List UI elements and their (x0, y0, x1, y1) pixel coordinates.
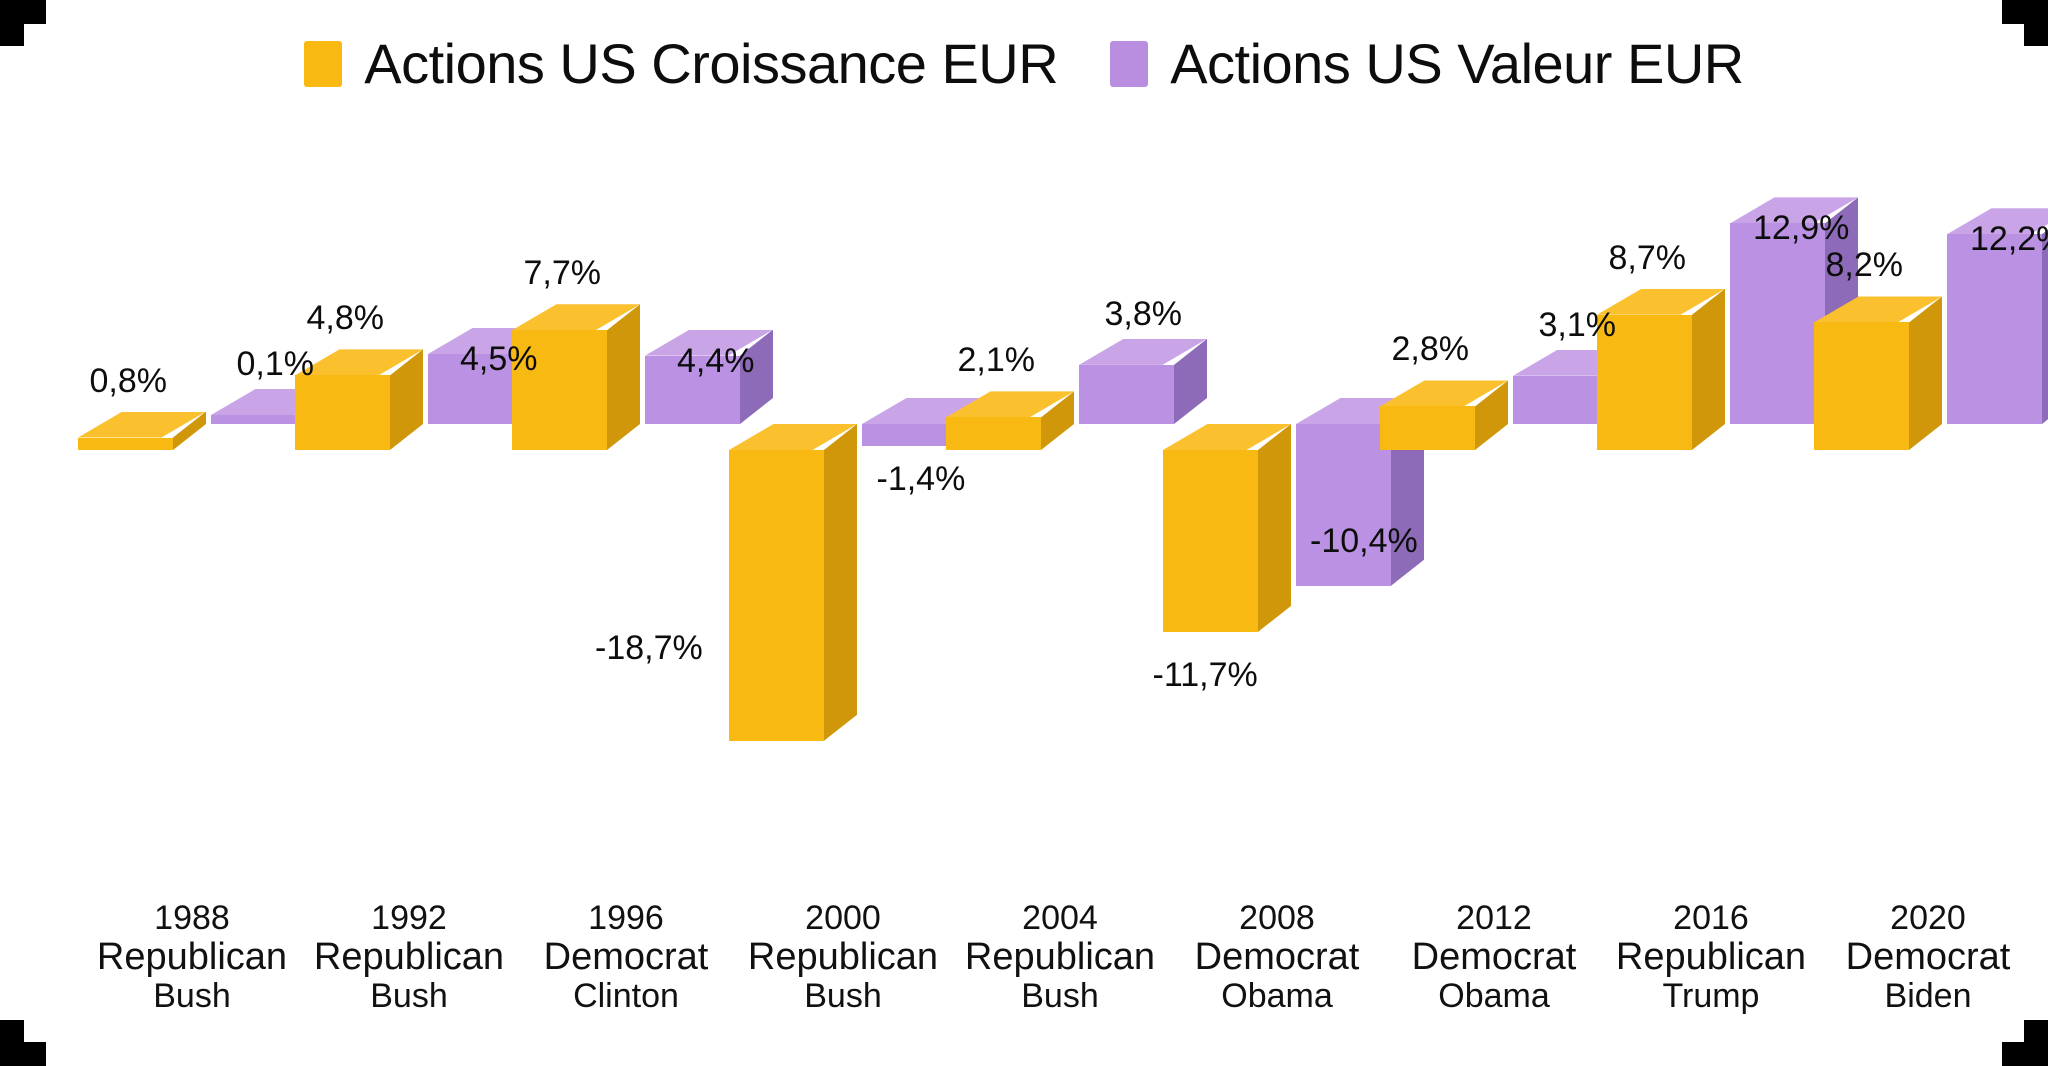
bar-croissance-1992[interactable] (295, 375, 390, 450)
bar-value-label-croissance-1992: 4,8% (307, 301, 385, 335)
bar-plot-area: 0,1%0,8%1988RepublicanBush4,5%4,8%1992Re… (0, 0, 2048, 1066)
bar-front-face (946, 417, 1041, 450)
bar-value-label-croissance-2008: -11,7% (1153, 658, 1258, 692)
bar-value-label-valeur-2012: 3,1% (1539, 308, 1617, 342)
bar-croissance-1988[interactable] (78, 438, 173, 450)
bar-front-face (1814, 322, 1909, 450)
bar-croissance-2020[interactable] (1814, 322, 1909, 450)
bar-value-label-croissance-2000: -18,7% (595, 631, 703, 665)
bar-croissance-2000[interactable] (729, 450, 824, 741)
bar-value-label-croissance-2020: 8,2% (1826, 248, 1904, 282)
bar-value-label-croissance-1988: 0,8% (90, 364, 168, 398)
bar-valeur-2000[interactable] (862, 424, 957, 446)
bar-side-face (824, 424, 857, 741)
bar-valeur-2020[interactable] (1947, 234, 2042, 424)
category-party: Democrat (1790, 937, 2048, 978)
bar-front-face (1296, 424, 1391, 586)
bar-value-label-croissance-2016: 8,7% (1609, 241, 1687, 275)
bar-value-label-valeur-1988: 0,1% (237, 347, 315, 381)
bar-valeur-2008[interactable] (1296, 424, 1391, 586)
bar-side-face (1258, 424, 1291, 632)
bar-valeur-2016[interactable] (1730, 223, 1825, 424)
bar-value-label-croissance-1996: 7,7% (524, 256, 602, 290)
bar-value-label-croissance-2012: 2,8% (1392, 332, 1470, 366)
bar-value-label-croissance-2004: 2,1% (958, 343, 1036, 377)
bar-side-face (607, 304, 640, 450)
category-president: Biden (1790, 978, 2048, 1015)
bar-value-label-valeur-2004: 3,8% (1105, 297, 1183, 331)
category-year: 2020 (1790, 900, 2048, 937)
bar-croissance-2008[interactable] (1163, 450, 1258, 632)
bar-value-label-valeur-1996: 4,4% (677, 344, 755, 378)
bar-front-face (1079, 365, 1174, 424)
bar-side-face (1692, 289, 1725, 450)
bar-front-face (211, 415, 306, 424)
chart-canvas: Actions US Croissance EURActions US Vale… (0, 0, 2048, 1066)
bar-front-face (1163, 450, 1258, 632)
category-label-2020: 2020DemocratBiden (1790, 900, 2048, 1014)
bar-valeur-2004[interactable] (1079, 365, 1174, 424)
bar-group-2020: 12,2%8,2%2020DemocratBiden (1814, 0, 2042, 1066)
bar-value-label-valeur-2020: 12,2% (1970, 222, 2048, 256)
bar-front-face (1947, 234, 2042, 424)
bar-croissance-2012[interactable] (1380, 406, 1475, 450)
bar-valeur-1988[interactable] (211, 415, 306, 424)
bar-front-face (862, 424, 957, 446)
bar-croissance-2004[interactable] (946, 417, 1041, 450)
bar-value-label-valeur-2000: -1,4% (877, 462, 966, 496)
bar-front-face (729, 450, 824, 741)
bar-value-label-valeur-2008: -10,4% (1310, 524, 1418, 558)
bar-front-face (1513, 376, 1608, 424)
bar-front-face (1730, 223, 1825, 424)
bar-front-face (78, 438, 173, 450)
bar-side-face (1909, 296, 1942, 450)
bar-front-face (1380, 406, 1475, 450)
bar-front-face (295, 375, 390, 450)
bar-valeur-2012[interactable] (1513, 376, 1608, 424)
bar-value-label-valeur-1992: 4,5% (460, 342, 538, 376)
bar-value-label-valeur-2016: 12,9% (1753, 211, 1849, 245)
